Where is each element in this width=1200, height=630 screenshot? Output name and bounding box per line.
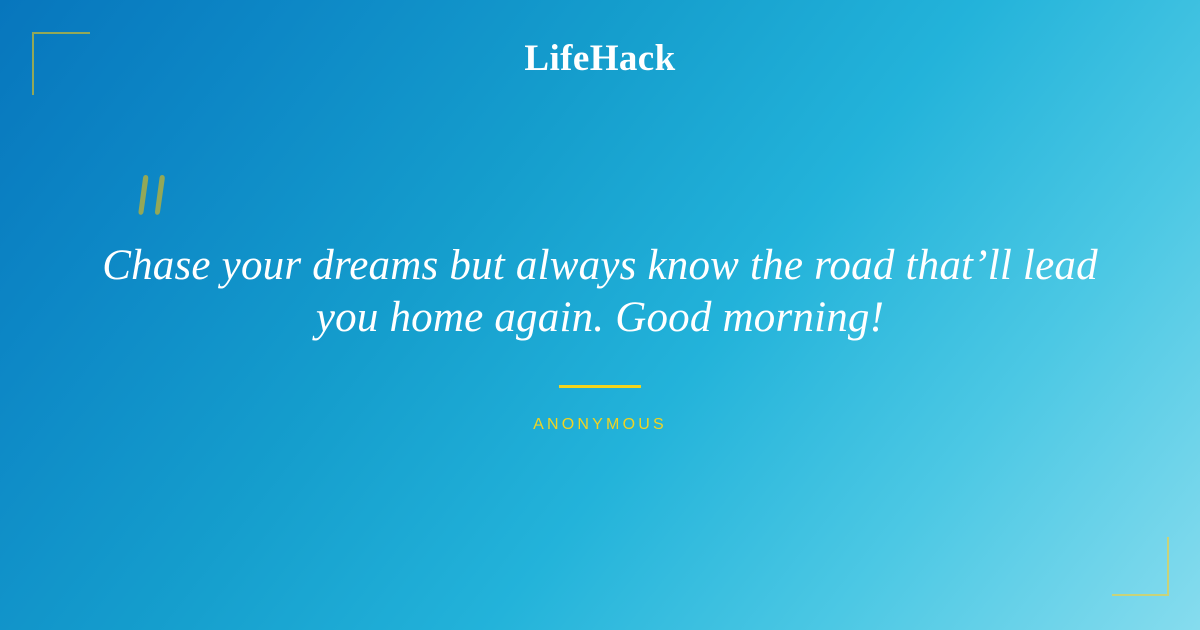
double-quote-icon: [131, 173, 175, 219]
divider-container: [0, 384, 1200, 388]
quote-divider: [559, 385, 641, 388]
quote-text-block: Chase your dreams but always know the ro…: [100, 240, 1100, 344]
quote-text: Chase your dreams but always know the ro…: [100, 240, 1100, 344]
corner-bracket-icon-bottom-right: [1112, 537, 1169, 596]
brand-logo: LifeHack: [0, 40, 1200, 77]
quote-card: LifeHack Chase your dreams but always kn…: [0, 0, 1200, 630]
quote-attribution: ANONYMOUS: [0, 415, 1200, 435]
